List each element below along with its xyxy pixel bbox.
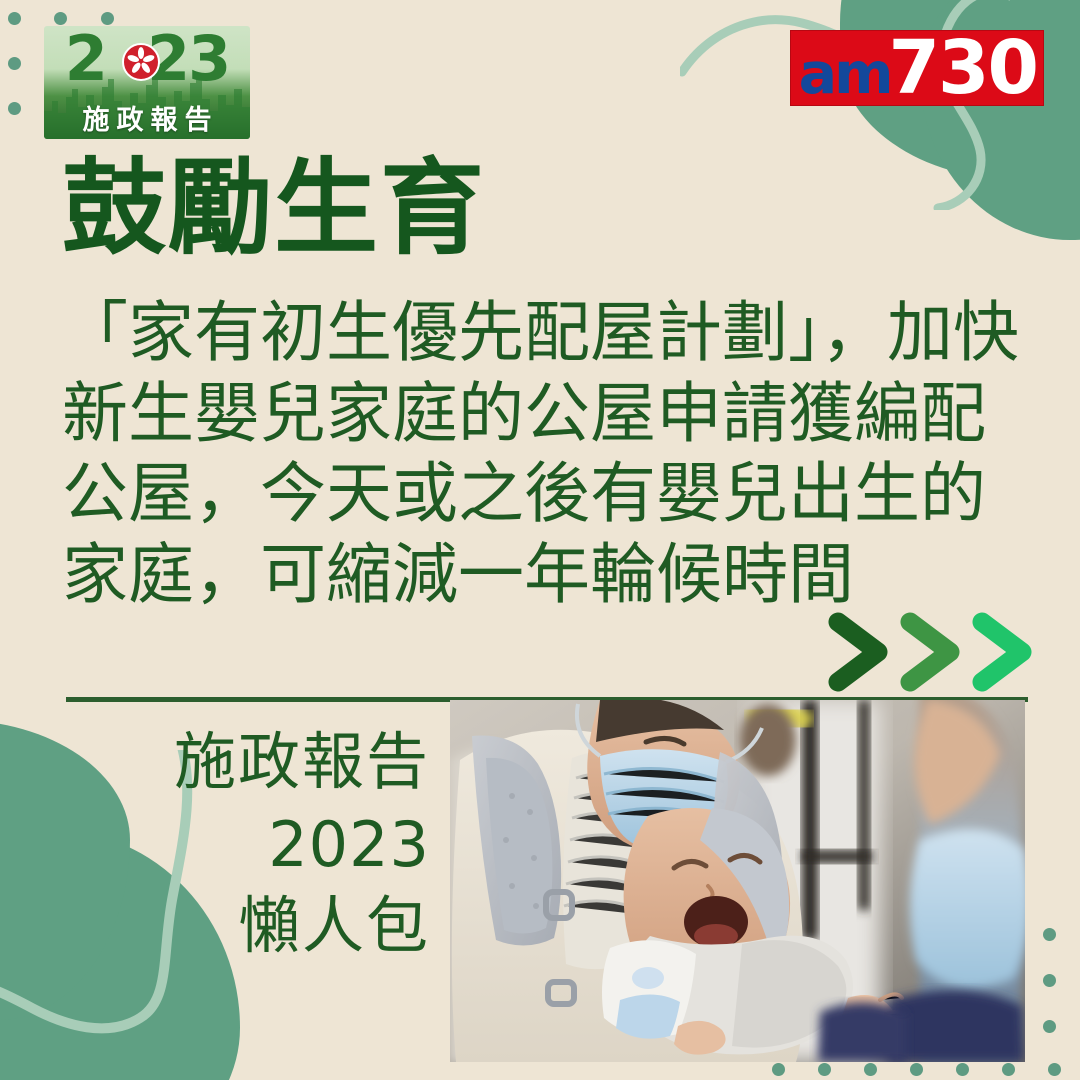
mother-holding-crying-baby-photo	[450, 700, 1025, 1062]
poster-canvas: 2023 施政報告 am 730 鼓勵生育 「家有初生優先配屋計劃」，加快新生嬰…	[0, 0, 1080, 1080]
body-paragraph: 「家有初生優先配屋計劃」，加快新生嬰兒家庭的公屋申請獲編配公屋，今天或之後有嬰兒…	[62, 292, 1030, 614]
decorative-dot	[1043, 974, 1056, 987]
decorative-dot	[864, 1063, 877, 1076]
page-title: 鼓勵生育	[62, 155, 486, 264]
chevron-arrow-group	[826, 612, 1036, 692]
decorative-dot	[54, 12, 67, 25]
chevron-right-icon-2	[898, 612, 964, 692]
decorative-dot	[8, 57, 21, 70]
decorative-dot	[1043, 928, 1056, 941]
caption-line-3: 懶人包	[120, 886, 430, 968]
am730-logo-730: 730	[889, 33, 1037, 103]
decorative-dot	[1048, 1063, 1061, 1076]
decorative-blob-bottom-left-2	[0, 720, 130, 1020]
decorative-dot	[1002, 1063, 1015, 1076]
decorative-dot	[1043, 1020, 1056, 1033]
decorative-dot	[101, 12, 114, 25]
chevron-right-icon-1	[826, 612, 892, 692]
decorative-dot	[818, 1063, 831, 1076]
chevron-right-icon-3	[970, 612, 1036, 692]
decorative-dot	[8, 12, 21, 25]
caption-line-2: 2023	[120, 804, 430, 886]
logo-subtitle: 施政報告	[44, 107, 250, 134]
decorative-dot	[910, 1063, 923, 1076]
hong-kong-bauhinia-emblem-icon	[122, 43, 160, 81]
decorative-dot	[8, 102, 21, 115]
am730-logo-am: am	[799, 47, 891, 101]
footer-caption: 施政報告 2023 懶人包	[120, 722, 430, 967]
policy-address-logo: 2023 施政報告	[44, 26, 250, 139]
logo-year-prefix: 2	[65, 26, 106, 95]
decorative-dot	[956, 1063, 969, 1076]
am730-logo[interactable]: am 730	[790, 30, 1044, 106]
caption-line-1: 施政報告	[120, 722, 430, 804]
decorative-dot	[772, 1063, 785, 1076]
